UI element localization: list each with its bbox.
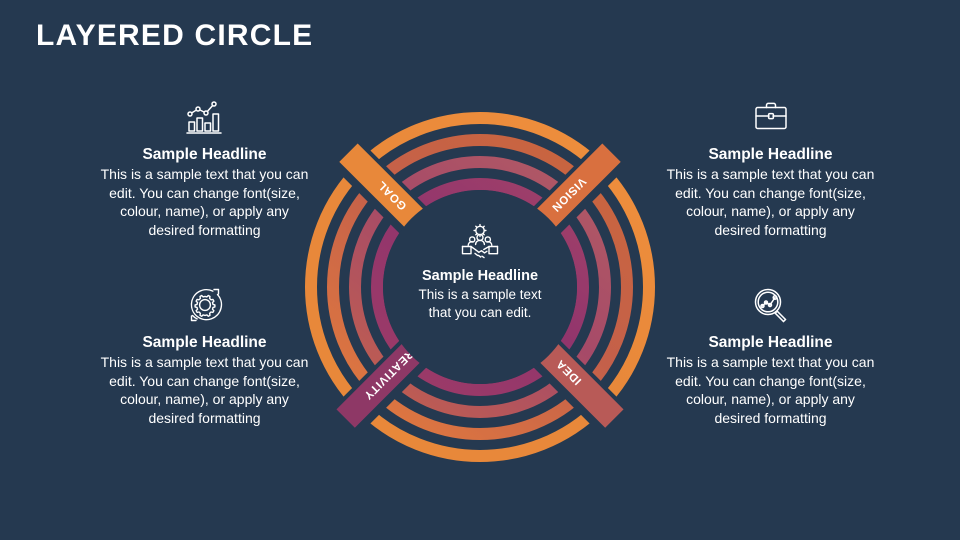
magnifier-analytics-icon	[663, 283, 878, 327]
info-block-bottom-left[interactable]: Sample Headline This is a sample text th…	[97, 283, 312, 427]
handshake-teamwork-icon	[406, 222, 554, 262]
page-title: LAYERED CIRCLE	[36, 18, 313, 54]
center-body-text: This is a sample text that you can edit.	[406, 286, 554, 321]
info-headline: Sample Headline	[663, 333, 878, 352]
info-body-text: This is a sample text that you can edit.…	[97, 165, 312, 239]
info-body-text: This is a sample text that you can edit.…	[663, 353, 878, 427]
info-headline: Sample Headline	[97, 333, 312, 352]
info-body-text: This is a sample text that you can edit.…	[97, 353, 312, 427]
center-content: Sample Headline This is a sample text th…	[406, 222, 554, 321]
bar-chart-growth-icon	[97, 95, 312, 139]
info-headline: Sample Headline	[663, 145, 878, 164]
briefcase-icon	[663, 95, 878, 139]
info-block-top-right[interactable]: Sample Headline This is a sample text th…	[663, 95, 878, 239]
info-headline: Sample Headline	[97, 145, 312, 164]
info-block-top-left[interactable]: Sample Headline This is a sample text th…	[97, 95, 312, 239]
center-headline: Sample Headline	[406, 267, 554, 285]
info-block-bottom-right[interactable]: Sample Headline This is a sample text th…	[663, 283, 878, 427]
gear-settings-icon	[97, 283, 312, 327]
info-body-text: This is a sample text that you can edit.…	[663, 165, 878, 239]
